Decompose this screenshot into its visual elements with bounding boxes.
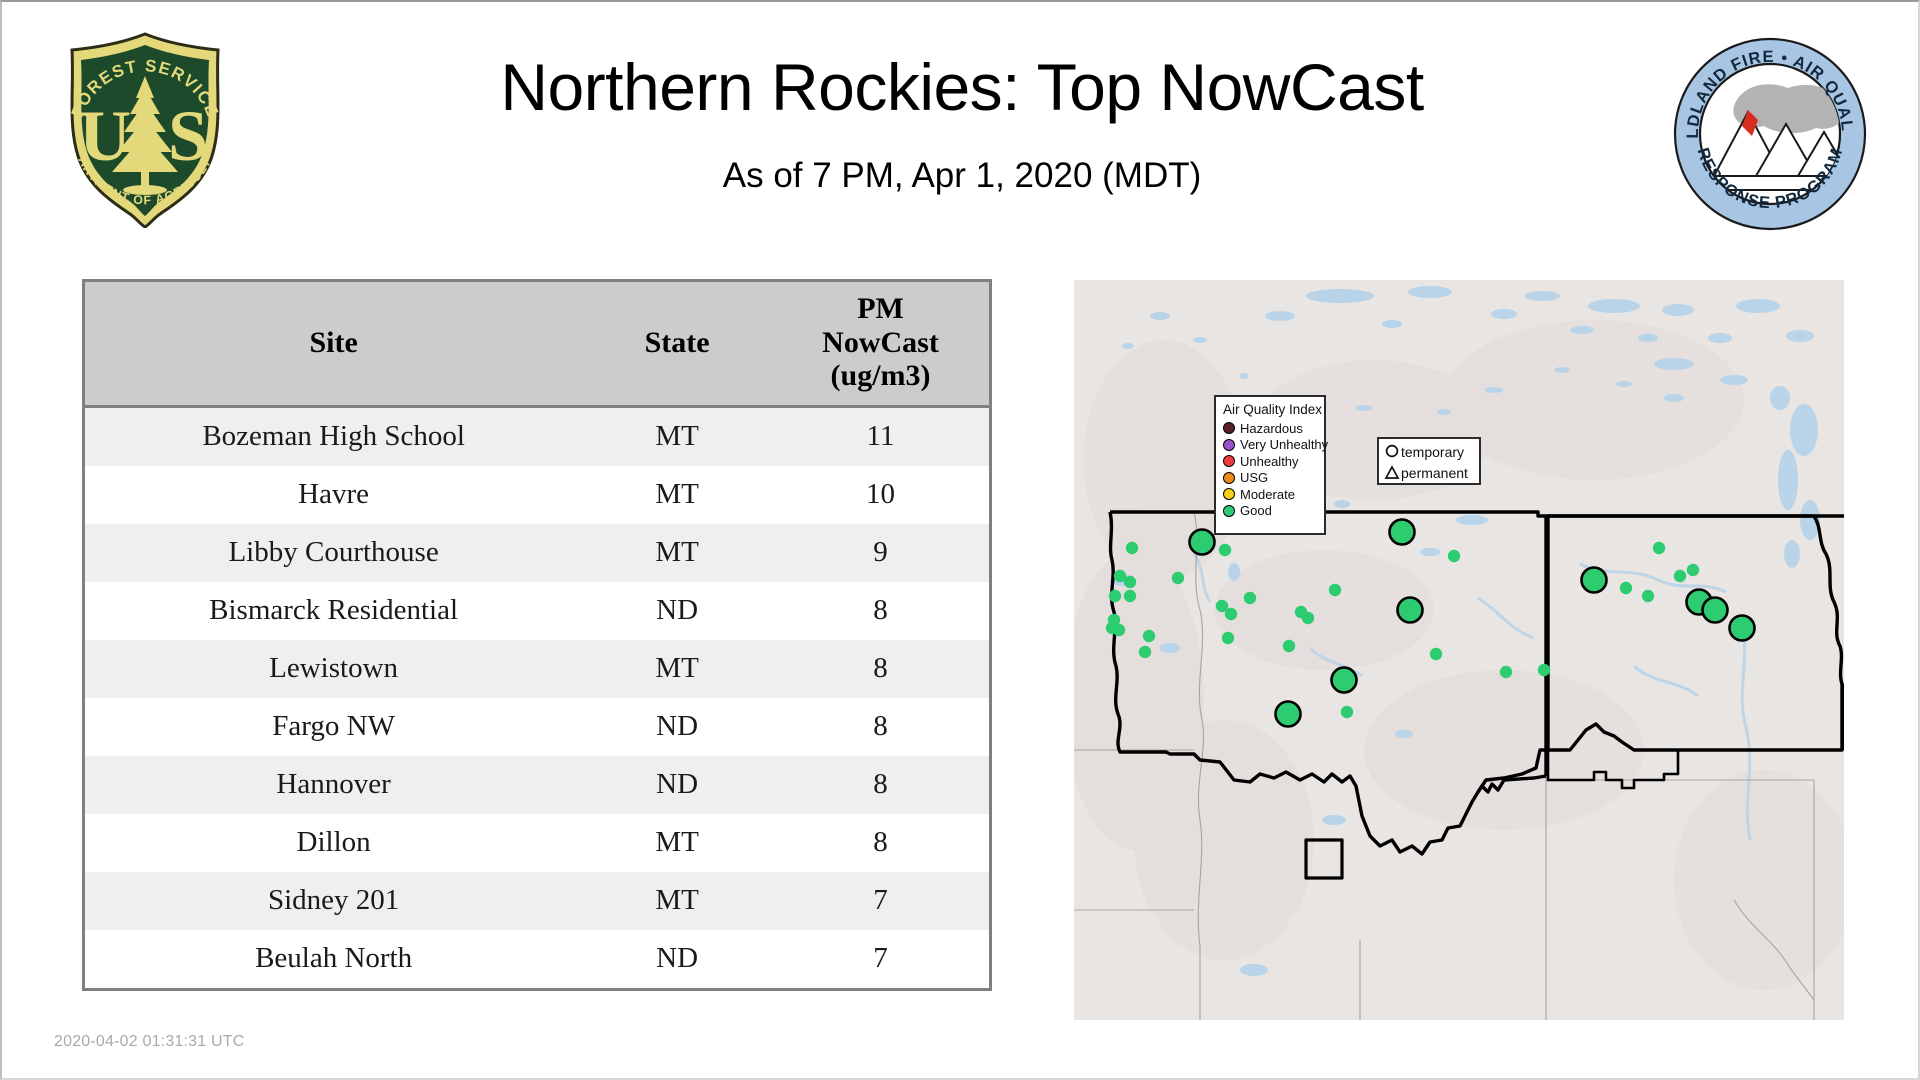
monitor-dot-highlighted[interactable]: Dillon — [1276, 702, 1301, 727]
value-cell: 8 — [772, 698, 989, 756]
monitor-dot — [1302, 612, 1314, 624]
monitor-dot — [1653, 542, 1665, 554]
monitor-dot — [1448, 550, 1460, 562]
value-cell: 8 — [772, 640, 989, 698]
table-row: LewistownMT8 — [85, 640, 989, 698]
value-cell: 8 — [772, 756, 989, 814]
value-cell: 7 — [772, 930, 989, 988]
column-header-pm-nowcast: PM NowCast (ug/m3) — [772, 282, 989, 406]
monitor-dot-highlighted[interactable]: Lewistown — [1398, 598, 1423, 623]
aqi-legend-title: Air Quality Index — [1223, 402, 1317, 417]
table-row: Bozeman High SchoolMT11 — [85, 406, 989, 466]
monitor-dot — [1329, 584, 1341, 596]
monitor-dot — [1430, 648, 1442, 660]
table-row: Beulah NorthND7 — [85, 930, 989, 988]
column-header-site: Site — [85, 282, 582, 406]
wfaqrp-circle-icon: WILDLAND FIRE • AIR QUALITY RESPONSE PRO… — [1672, 36, 1868, 232]
table-row: Sidney 201MT7 — [85, 872, 989, 930]
state-cell: ND — [582, 582, 772, 640]
monitor-dot-highlighted[interactable]: Libby Courthouse — [1190, 530, 1215, 555]
state-cell: MT — [582, 524, 772, 582]
value-cell: 10 — [772, 466, 989, 524]
table-body: Bozeman High SchoolMT11HavreMT10Libby Co… — [85, 406, 989, 988]
monitor-dot-highlighted[interactable]: Bozeman High School — [1332, 668, 1357, 693]
monitor-dot — [1113, 624, 1125, 636]
aqi-legend-label: USG — [1240, 471, 1268, 484]
usfs-forest-service-logo: U S FOREST SERVICE DEPARTMENT OF AGRICUL… — [50, 28, 240, 228]
aqi-legend-swatch-icon — [1223, 472, 1235, 484]
table-header-row: Site State PM NowCast (ug/m3) — [85, 282, 989, 406]
state-cell: ND — [582, 698, 772, 756]
monitor-type-permanent-label: permanent — [1401, 466, 1468, 480]
table-head: Site State PM NowCast (ug/m3) — [85, 282, 989, 406]
monitor-dot — [1500, 666, 1512, 678]
title-block: Northern Rockies: Top NowCast As of 7 PM… — [302, 54, 1622, 196]
page-title: Northern Rockies: Top NowCast — [302, 54, 1622, 120]
aqi-legend-label: Good — [1240, 504, 1272, 517]
monitor-dot — [1642, 590, 1654, 602]
value-cell: 11 — [772, 406, 989, 466]
site-cell: Bozeman High School — [85, 406, 582, 466]
aqi-legend-swatch-icon — [1223, 455, 1235, 467]
column-header-pm-line2: NowCast — [772, 326, 989, 360]
aqi-legend-item: Hazardous — [1223, 420, 1317, 437]
monitor-dot — [1225, 608, 1237, 620]
site-cell: Bismarck Residential — [85, 582, 582, 640]
monitor-dot-highlighted[interactable]: Beulah North — [1703, 598, 1728, 623]
generation-timestamp: 2020-04-02 01:31:31 UTC — [54, 1033, 245, 1051]
monitor-dot-highlighted[interactable]: Bismarck Residential — [1730, 616, 1755, 641]
state-cell: ND — [582, 930, 772, 988]
table-row: Libby CourthouseMT9 — [85, 524, 989, 582]
aqi-legend-item: USG — [1223, 470, 1317, 487]
monitor-dot — [1126, 542, 1138, 554]
monitor-dot — [1219, 544, 1231, 556]
page-subtitle: As of 7 PM, Apr 1, 2020 (MDT) — [302, 156, 1622, 196]
table-row: HannoverND8 — [85, 756, 989, 814]
nowcast-table-container: Site State PM NowCast (ug/m3) Bozeman Hi… — [82, 279, 992, 991]
table-row: DillonMT8 — [85, 814, 989, 872]
state-cell: MT — [582, 872, 772, 930]
aqi-legend-item: Moderate — [1223, 486, 1317, 503]
value-cell: 9 — [772, 524, 989, 582]
monitor-dot — [1139, 646, 1151, 658]
aqi-legend-label: Very Unhealthy — [1240, 438, 1328, 451]
table-row: Bismarck ResidentialND8 — [85, 582, 989, 640]
site-cell: Hannover — [85, 756, 582, 814]
monitor-type-temporary-row: temporary — [1383, 441, 1475, 462]
site-cell: Fargo NW — [85, 698, 582, 756]
aqi-legend-swatch-icon — [1223, 488, 1235, 500]
aqi-legend-rows: HazardousVery UnhealthyUnhealthyUSGModer… — [1223, 420, 1317, 519]
site-cell: Libby Courthouse — [85, 524, 582, 582]
aqi-legend-label: Hazardous — [1240, 422, 1303, 435]
slide-root: U S FOREST SERVICE DEPARTMENT OF AGRICUL… — [0, 0, 1920, 1080]
monitor-type-legend: temporary permanent — [1377, 437, 1481, 485]
state-cell: MT — [582, 640, 772, 698]
monitor-type-temporary-label: temporary — [1401, 445, 1464, 459]
monitor-dot — [1124, 576, 1136, 588]
state-cell: ND — [582, 756, 772, 814]
monitor-dot — [1341, 706, 1353, 718]
usfs-shield-icon: U S FOREST SERVICE DEPARTMENT OF AGRICUL… — [50, 28, 240, 228]
monitor-dot — [1124, 590, 1136, 602]
monitor-dot-highlighted[interactable]: Sidney 201 — [1582, 568, 1607, 593]
monitor-type-permanent-row: permanent — [1383, 462, 1475, 483]
state-cell: MT — [582, 406, 772, 466]
monitor-dot — [1222, 632, 1234, 644]
state-cell: MT — [582, 814, 772, 872]
site-cell: Lewistown — [85, 640, 582, 698]
monitor-dot — [1244, 592, 1256, 604]
monitor-dot — [1538, 664, 1550, 676]
site-cell: Havre — [85, 466, 582, 524]
aqi-legend-swatch-icon — [1223, 505, 1235, 517]
monitor-dot — [1687, 564, 1699, 576]
permanent-monitor-triangle-icon — [1383, 464, 1401, 482]
monitor-dot-highlighted[interactable]: Havre — [1390, 520, 1415, 545]
wfaqrp-program-logo: WILDLAND FIRE • AIR QUALITY RESPONSE PRO… — [1672, 36, 1868, 232]
aqi-legend-label: Moderate — [1240, 488, 1295, 501]
site-cell: Sidney 201 — [85, 872, 582, 930]
map-canvas[interactable]: Libby CourthouseHavreSidney 201Lewistown… — [1074, 280, 1844, 1020]
monitor-dot — [1283, 640, 1295, 652]
value-cell: 8 — [772, 814, 989, 872]
monitor-dot — [1172, 572, 1184, 584]
aqi-legend-item: Very Unhealthy — [1223, 437, 1317, 454]
column-header-state: State — [582, 282, 772, 406]
table-row: Fargo NWND8 — [85, 698, 989, 756]
aqi-legend-label: Unhealthy — [1240, 455, 1299, 468]
monitor-dot — [1143, 630, 1155, 642]
nowcast-table: Site State PM NowCast (ug/m3) Bozeman Hi… — [85, 282, 989, 988]
temporary-monitor-circle-icon — [1383, 443, 1401, 461]
state-cell: MT — [582, 466, 772, 524]
value-cell: 8 — [772, 582, 989, 640]
aqi-legend-swatch-icon — [1223, 439, 1235, 451]
monitor-dot — [1109, 590, 1121, 602]
column-header-pm-line3: (ug/m3) — [772, 359, 989, 393]
monitor-dot — [1620, 582, 1632, 594]
aqi-legend-item: Good — [1223, 503, 1317, 520]
aqi-legend: Air Quality Index HazardousVery Unhealth… — [1214, 395, 1326, 535]
aqi-legend-item: Unhealthy — [1223, 453, 1317, 470]
site-cell: Beulah North — [85, 930, 582, 988]
table-row: HavreMT10 — [85, 466, 989, 524]
value-cell: 7 — [772, 872, 989, 930]
site-cell: Dillon — [85, 814, 582, 872]
column-header-pm-line1: PM — [772, 292, 989, 326]
monitor-dot — [1674, 570, 1686, 582]
aqi-legend-swatch-icon — [1223, 422, 1235, 434]
monitor-map[interactable]: Libby CourthouseHavreSidney 201Lewistown… — [1074, 280, 1844, 1020]
